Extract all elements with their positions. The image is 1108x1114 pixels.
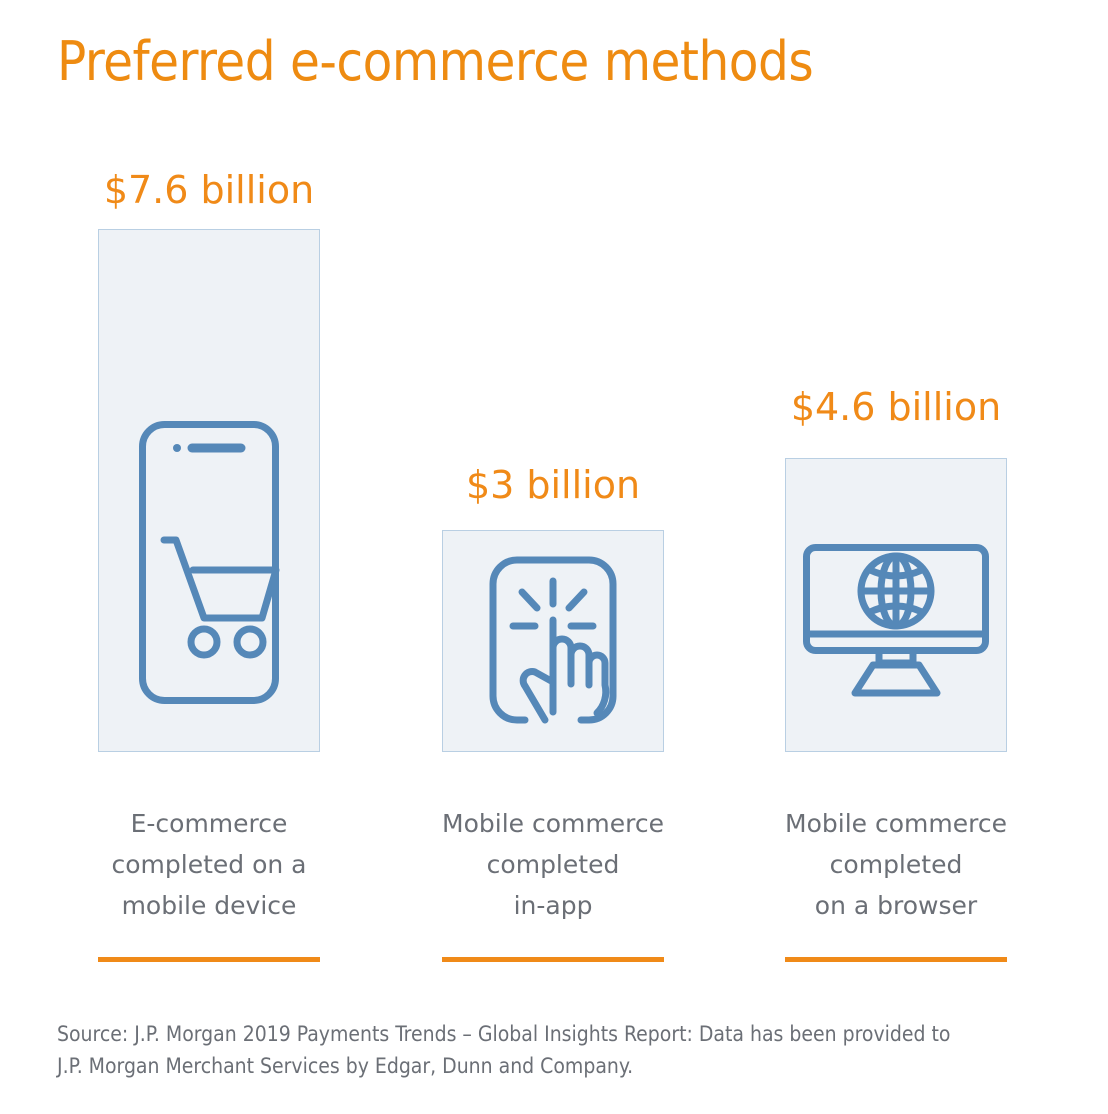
caption-line: on a browser	[766, 885, 1026, 926]
bar-browser	[785, 458, 1007, 752]
app-tap-gesture-icon	[489, 556, 617, 731]
source-line-1: Source: J.P. Morgan 2019 Payments Trends…	[57, 1018, 1047, 1050]
accent-rule-0	[98, 957, 320, 962]
bar-mobile-device	[98, 229, 320, 752]
bar-value-label-1: $3 billion	[442, 463, 664, 507]
bar-caption-2: Mobile commerce completed on a browser	[766, 803, 1026, 926]
desktop-monitor-globe-icon	[802, 543, 990, 708]
caption-line: in-app	[423, 885, 683, 926]
accent-rule-2	[785, 957, 1007, 962]
caption-line: completed on a	[79, 844, 339, 885]
accent-rule-1	[442, 957, 664, 962]
source-note: Source: J.P. Morgan 2019 Payments Trends…	[57, 1018, 1047, 1082]
caption-line: mobile device	[79, 885, 339, 926]
bar-value-label-2: $4.6 billion	[785, 385, 1007, 429]
caption-line: E-commerce	[79, 803, 339, 844]
bar-chart: $7.6 billion $3 billion $4.6 billion	[0, 0, 1108, 1000]
caption-line: completed	[766, 844, 1026, 885]
caption-line: Mobile commerce	[766, 803, 1026, 844]
bar-caption-1: Mobile commerce completed in-app	[423, 803, 683, 926]
source-line-2: J.P. Morgan Merchant Services by Edgar, …	[57, 1050, 1047, 1082]
bar-value-label-0: $7.6 billion	[98, 168, 320, 212]
bar-in-app	[442, 530, 664, 752]
caption-line: completed	[423, 844, 683, 885]
smartphone-shopping-cart-icon	[138, 420, 280, 710]
caption-line: Mobile commerce	[423, 803, 683, 844]
bar-caption-0: E-commerce completed on a mobile device	[79, 803, 339, 926]
